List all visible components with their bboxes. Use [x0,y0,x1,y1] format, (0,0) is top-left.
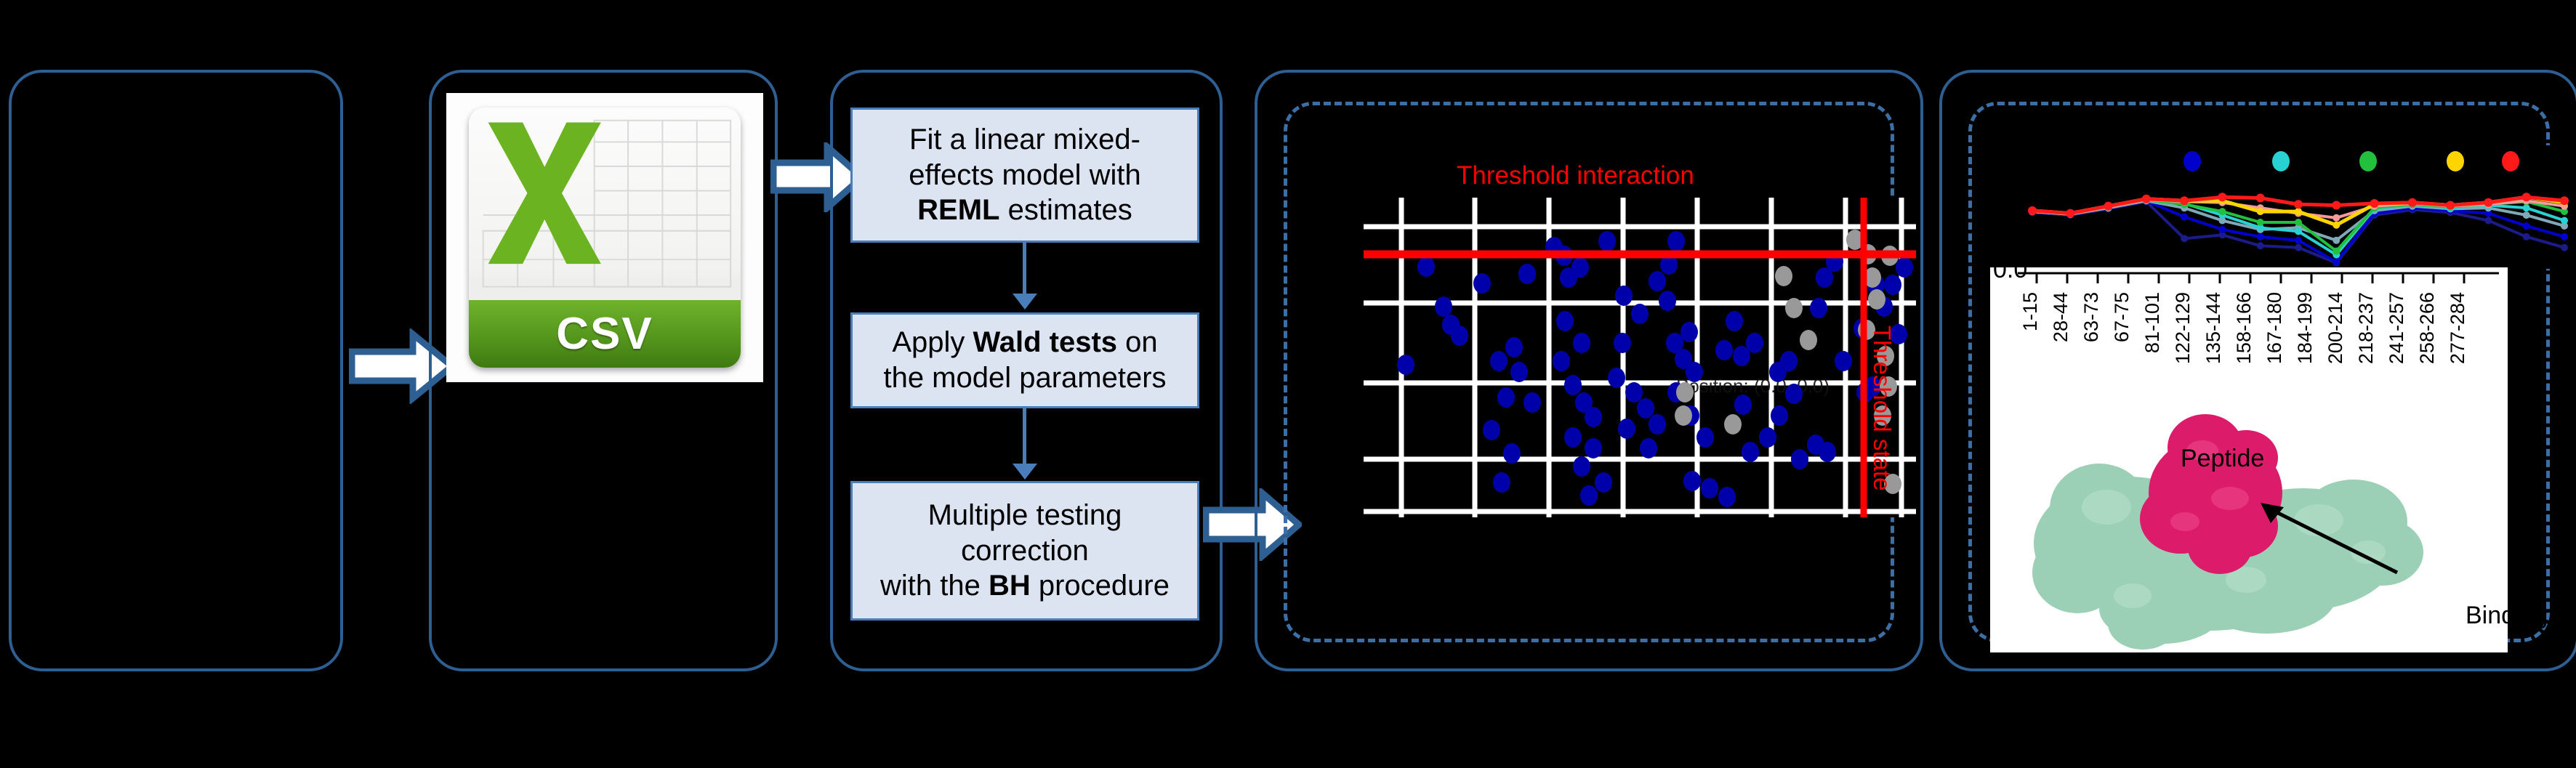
connector-wald-to-bh [1023,408,1026,466]
series-point-steel [2523,211,2530,219]
threshold-state-label: Threshold state [1868,326,1896,490]
figure-y-tick-zero: 0.0 [1993,256,2027,284]
series-point-red [2560,196,2569,205]
x-tick-label: 158-166 [2233,292,2255,364]
series-point-red [2446,201,2455,209]
series-point-green [2333,248,2340,255]
peptide-line-chart [1990,145,2572,269]
connector-model-to-wald [1023,243,1026,296]
series-point-cyan [2523,204,2530,211]
peptide-chart-svg [1990,145,2572,269]
series-point-blue [2523,222,2530,230]
series-point-red [2256,194,2265,203]
series-point-blue [2333,259,2340,266]
bh-line-2: correction [961,535,1089,567]
process-box-model[interactable]: Fit a linear mixed- effects model with R… [850,108,1199,243]
series-point-yellow [2295,208,2302,215]
series-point-blue [2295,237,2302,244]
series-point-green [2218,208,2226,215]
process-box-wald-text: Apply Wald tests on the model parameters [883,325,1166,396]
series-point-blue [2561,233,2568,240]
series-point-navy [2484,217,2492,225]
peptide-axis-label: Peptide [2181,445,2264,473]
series-point-navy [2257,242,2264,249]
wald-line-2: the model parameters [883,362,1166,394]
wald-tail: on [1117,326,1158,358]
x-tick-label: 67-75 [2111,292,2133,342]
model-line-2: effects model with [909,159,1140,191]
series-point-blue [2257,233,2264,240]
threshold-scatter-plot: Position: (0.0, 0.0) [1364,198,1916,517]
model-bold: REML [917,194,999,226]
flow-canvas: CSV Fit a linear mixed- effects model wi… [0,0,2576,687]
x-tick-label: 81-101 [2141,292,2163,353]
bh-line-3-lead: with the [880,570,989,602]
x-tick-label: 122-129 [2172,292,2194,364]
x-tick-label: 63-73 [2080,292,2102,342]
x-tick-label: 277-284 [2447,292,2468,364]
bh-line-1: Multiple testing [928,499,1122,531]
model-line-3: estimates [1000,194,1132,226]
series-point-red [2104,202,2113,211]
threshold-interaction-title: Threshold interaction [1457,161,1694,190]
process-box-bh[interactable]: Multiple testing correction with the BH … [850,481,1199,621]
x-tick-label: 1-15 [2019,292,2041,331]
series-point-steel [2333,237,2340,244]
series-point-red [2370,199,2379,208]
series-point-navy [2295,244,2302,251]
x-tick-label: 135-144 [2202,292,2224,364]
excel-x-icon [482,118,607,269]
series-point-cyan [2561,217,2568,225]
x-tick-label: 28-44 [2050,292,2072,342]
series-point-salmon [2333,214,2340,222]
series-point-navy [2181,235,2188,242]
series-point-red [2408,198,2417,207]
series-point-red [2066,209,2074,218]
bh-bold: BH [989,570,1031,602]
series-point-yellow [2257,208,2264,215]
x-tick-label: 218-237 [2355,292,2377,364]
csv-icon-body: CSV [469,108,741,368]
series-point-blue [2181,214,2188,221]
x-tick-label: 258-266 [2416,292,2438,364]
x-tick-label: 167-180 [2263,292,2285,364]
series-point-yellow [2333,222,2340,229]
csv-file-icon[interactable]: CSV [446,93,763,382]
stage-input-panel [9,70,343,671]
process-box-model-text: Fit a linear mixed- effects model with R… [909,122,1140,228]
csv-label-band: CSV [469,300,741,368]
series-point-green [2295,219,2302,226]
x-tick-label: 200-214 [2325,292,2346,364]
series-point-blue [2218,226,2226,233]
bh-line-3-tail: procedure [1031,570,1170,602]
model-line-1: Fit a linear mixed- [909,124,1140,155]
series-point-green [2257,219,2264,226]
process-box-wald[interactable]: Apply Wald tests on the model parameters [850,312,1199,408]
process-box-bh-text: Multiple testing correction with the BH … [880,498,1170,604]
series-point-cyan [2295,227,2302,235]
series-point-red [2484,198,2492,207]
connector-wald-to-bh-arrowhead [1013,464,1037,480]
series-point-navy [2523,233,2530,240]
series-point-navy [2561,244,2568,251]
x-tick-label: 241-257 [2386,292,2407,364]
binding-interface-line-1: Binding [2466,602,2560,629]
wald-lead: Apply [892,326,973,358]
series-point-red [2332,201,2340,209]
series-point-red [2294,200,2303,209]
x-tick-label: 184-199 [2294,292,2316,364]
binding-interface-label: Binding interface [2466,546,2560,768]
wald-bold: Wald tests [973,326,1118,358]
csv-label: CSV [556,308,653,360]
series-point-red [2142,195,2151,203]
series-point-red [2218,193,2226,201]
series-point-red [2028,206,2037,215]
scatter-svg: Position: (0.0, 0.0) [1364,198,1916,517]
binding-interface-line-2: interface [2466,684,2560,712]
series-point-red [2180,196,2189,205]
connector-model-to-wald-arrowhead [1013,294,1037,310]
series-point-red [2522,193,2531,201]
